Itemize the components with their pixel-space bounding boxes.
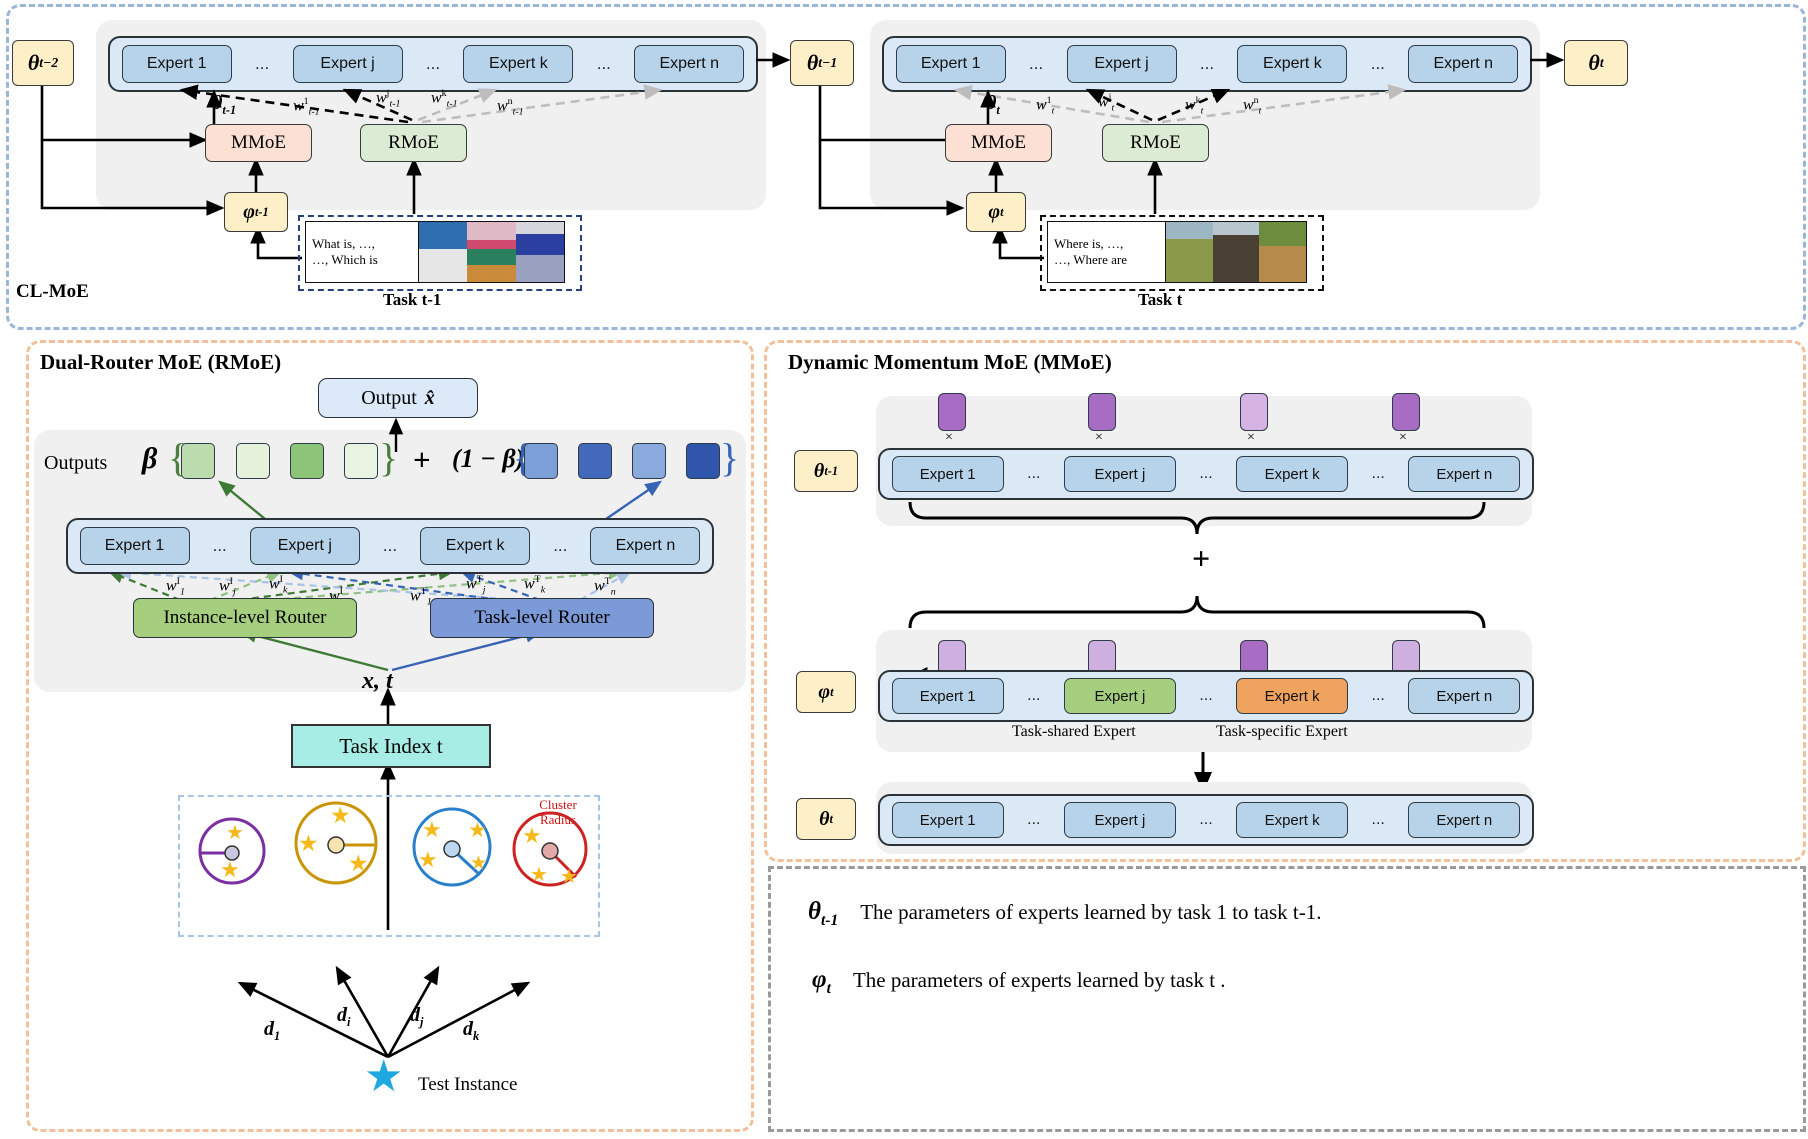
mmoe-row3-expert-j[interactable]: Expert j — [1064, 802, 1176, 838]
legend-phi-text: The parameters of experts learned by tas… — [853, 968, 1226, 993]
expert-label: Expert k — [1265, 812, 1320, 829]
mmoe-row2-ellipsis-2: ... — [1199, 687, 1212, 705]
mmoe-row3-expert-n[interactable]: Expert n — [1408, 802, 1520, 838]
expert-label: Expert j — [1094, 688, 1145, 705]
expert-label: Expert n — [1436, 812, 1492, 829]
expert-label: Expert n — [1436, 688, 1492, 705]
expert-label: Expert 1 — [920, 812, 976, 829]
legend-phi-symbol: φt — [812, 966, 831, 998]
mmoe-row3-ellipsis-1: ... — [1027, 811, 1040, 829]
task-specific-expert-label: Task-specific Expert — [1216, 723, 1348, 741]
mmoe-phi-t-chip: φt — [796, 671, 856, 713]
task-shared-expert-label: Task-shared Expert — [1012, 723, 1136, 741]
expert-label: Expert j — [1094, 812, 1145, 829]
mmoe-row2-ellipsis-1: ... — [1027, 687, 1040, 705]
mmoe-row3-ellipsis-2: ... — [1199, 811, 1212, 829]
mmoe-row2-expert-n[interactable]: Expert n — [1408, 678, 1520, 714]
legend-symbol-base: θ — [808, 898, 821, 925]
mmoe-plus-operator: + — [1192, 540, 1210, 577]
mmoe-row3-expert-1[interactable]: Expert 1 — [892, 802, 1004, 838]
mmoe-row3-ellipsis-3: ... — [1372, 811, 1385, 829]
legend-symbol-sub: t-1 — [821, 912, 838, 929]
theta-symbol: θ — [819, 808, 829, 831]
mmoe-row3-expert-rail: Expert 1 ... Expert j ... Expert k ... E… — [878, 794, 1534, 846]
mmoe-row2-expert-j[interactable]: Expert j — [1064, 678, 1176, 714]
legend-item-phi: φt The parameters of experts learned by … — [812, 966, 1226, 998]
theta-sub: t — [829, 812, 832, 827]
legend-symbol-base: φ — [812, 966, 827, 993]
phi-sub: t — [830, 685, 833, 700]
legend-symbol-sub: t — [827, 980, 831, 997]
mmoe-theta-t-chip: θt — [796, 798, 856, 840]
mmoe-row2-expert-k[interactable]: Expert k — [1236, 678, 1348, 714]
legend-theta-text: The parameters of experts learned by tas… — [860, 900, 1321, 925]
expert-label: Expert k — [1265, 688, 1320, 705]
legend-theta-symbol: θt-1 — [808, 898, 838, 930]
mmoe-row2-ellipsis-3: ... — [1372, 687, 1385, 705]
phi-symbol: φ — [818, 681, 830, 704]
legend-item-theta: θt-1 The parameters of experts learned b… — [808, 898, 1321, 930]
mmoe-row2-expert-rail: Expert 1 ... Expert j ... Expert k ... E… — [878, 670, 1534, 722]
mmoe-row3-expert-k[interactable]: Expert k — [1236, 802, 1348, 838]
mmoe-row2-expert-1[interactable]: Expert 1 — [892, 678, 1004, 714]
expert-label: Expert 1 — [920, 688, 976, 705]
